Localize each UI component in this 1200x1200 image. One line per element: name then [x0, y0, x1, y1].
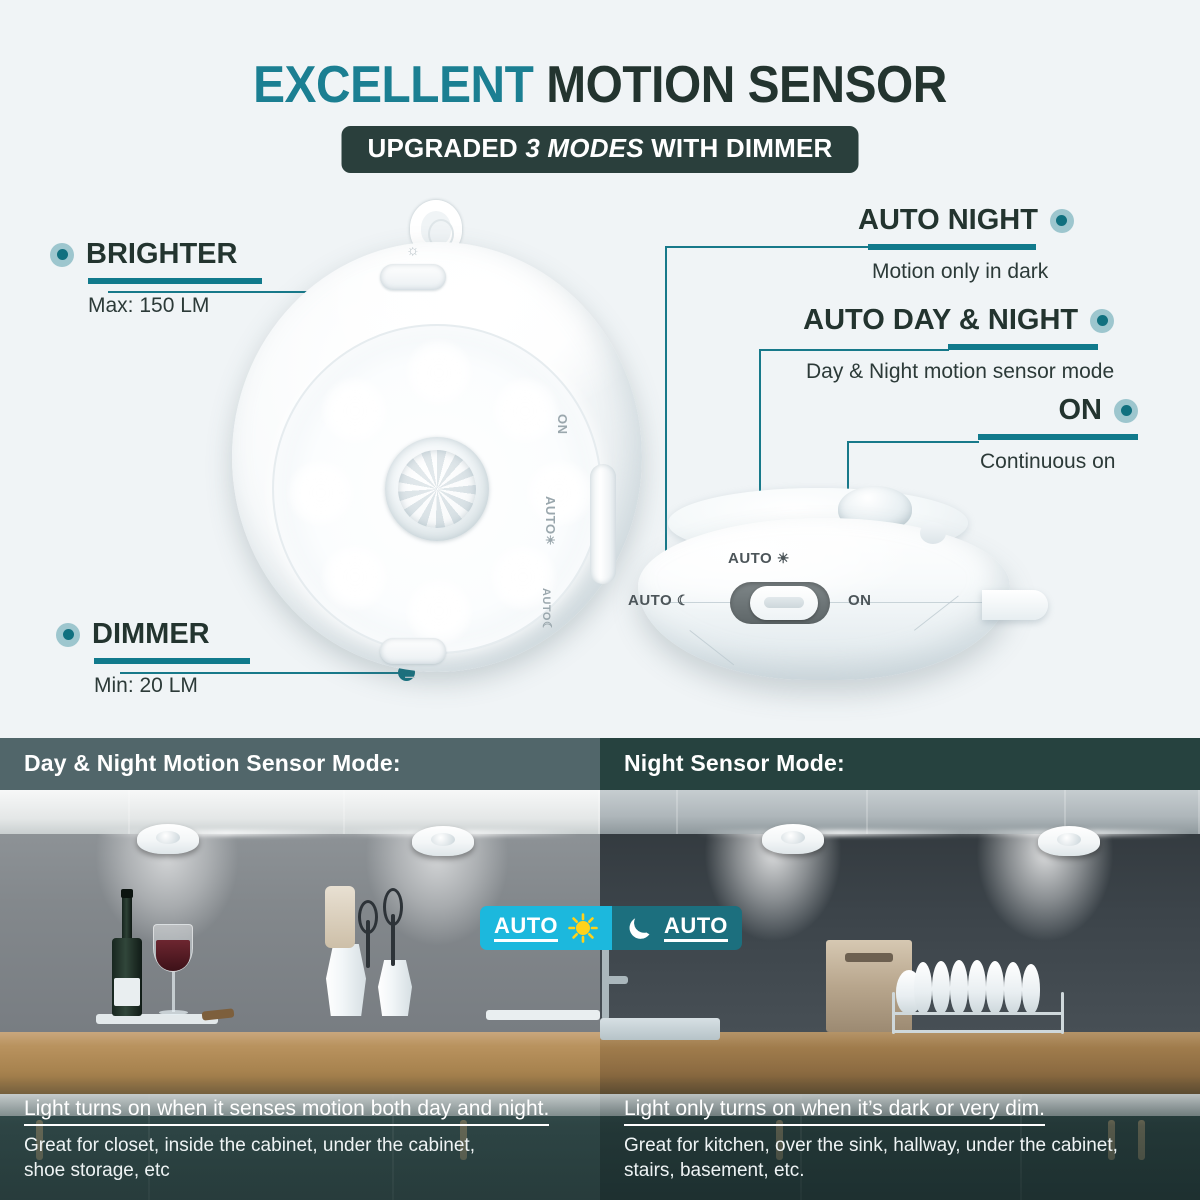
callout-brighter-sub: Max: 150 LM: [88, 295, 262, 316]
panel-left-header: Day & Night Motion Sensor Mode:: [0, 738, 600, 790]
whisk-2-head: [383, 888, 403, 926]
wine-glass: [153, 924, 195, 1016]
panel-right-caption-sub-1: Great for kitchen, over the sink, hallwa…: [624, 1133, 1184, 1159]
callout-auto-day-night-sub: Day & Night motion sensor mode: [806, 361, 1114, 382]
faucet-spout: [602, 976, 628, 984]
sun-icon: ☀: [543, 535, 557, 546]
panel-right-heading: Night Sensor Mode:: [624, 750, 845, 777]
sink-basin: [600, 1018, 720, 1040]
installed-light-1: [762, 824, 824, 854]
rack-wire-bottom: [892, 1030, 1064, 1033]
usage-scenarios: Day & Night Motion Sensor Mode:: [0, 738, 1200, 1200]
led-2: [492, 378, 558, 444]
vase-1: [326, 944, 366, 1016]
callout-auto-day-night: AUTO DAY & NIGHT Day & Night motion sens…: [800, 306, 1114, 382]
cutting-board-flat: [486, 1010, 600, 1020]
subtitle-pre: UPGRADED: [368, 133, 526, 163]
hero-section: EXCELLENT MOTION SENSOR UPGRADED 3 MODES…: [0, 0, 1200, 738]
panel-right-caption: Light only turns on when it’s dark or ve…: [624, 1095, 1184, 1184]
moon-icon: ☾: [540, 621, 554, 632]
badge-auto-night: AUTO: [612, 906, 742, 950]
plate-8: [1022, 964, 1040, 1014]
product-main-unit: ON AUTO☀ AUTO☾ ☼ ⚊: [232, 200, 642, 700]
installed-light-2: [412, 826, 474, 856]
callout-brighter-rule: [88, 278, 262, 284]
side-label-auto-night: AUTO☾: [540, 588, 554, 632]
sun-icon: ☀: [777, 550, 790, 566]
panel-right-header: Night Sensor Mode:: [600, 738, 1200, 790]
callout-on: ON Continuous on: [1000, 396, 1138, 472]
led-1: [406, 340, 472, 406]
bullet-dot-icon: [1050, 209, 1074, 233]
led-6: [322, 544, 388, 610]
pir-motion-sensor: [385, 437, 489, 541]
brightness-up-icon: ☼: [406, 242, 420, 259]
puck-housing: ON AUTO☀ AUTO☾ ☼ ⚊: [232, 242, 642, 672]
plate-4: [950, 960, 968, 1014]
product-infographic: EXCELLENT MOTION SENSOR UPGRADED 3 MODES…: [0, 0, 1200, 1200]
side-label-auto-day: AUTO☀: [543, 496, 558, 546]
callout-dimmer-title: DIMMER: [92, 620, 210, 649]
bullet-dot-icon: [50, 243, 74, 267]
subtitle-emphasis: 3 MODES: [525, 133, 643, 163]
bullet-dot-icon: [1090, 309, 1114, 333]
callout-auto-night-title: AUTO NIGHT: [858, 206, 1038, 235]
callout-auto-day-night-title: AUTO DAY & NIGHT: [803, 306, 1078, 335]
badge-auto-day: AUTO: [480, 906, 612, 950]
badge-auto-day-label: AUTO: [494, 914, 558, 941]
bullet-dot-icon: [1114, 399, 1138, 423]
callout-dimmer-rule: [94, 658, 250, 664]
plate-7: [1004, 962, 1022, 1014]
wine-bottle: [112, 888, 142, 1016]
panel-night-mode: Night Sensor Mode:: [600, 738, 1200, 1200]
underglow-1: [696, 830, 986, 836]
panel-left-caption-sub-1: Great for closet, inside the cabinet, un…: [24, 1133, 584, 1159]
rack-wire-left: [892, 992, 895, 1034]
title-accent: EXCELLENT: [253, 56, 533, 114]
brighter-button[interactable]: [380, 264, 446, 290]
whisk-1-head: [358, 900, 378, 934]
panel-day-night-mode: Day & Night Motion Sensor Mode:: [0, 738, 600, 1200]
side-label-on: ON: [555, 414, 570, 435]
plate-3: [932, 961, 950, 1014]
leader-line-on-h: [847, 441, 979, 443]
callout-brighter-title: BRIGHTER: [86, 240, 237, 269]
switch-label-auto-day: AUTO ☀: [728, 550, 790, 567]
brightness-down-icon: ⚊: [404, 666, 416, 682]
plate-2: [914, 962, 932, 1014]
led-5: [406, 578, 472, 644]
dimmer-button[interactable]: [380, 638, 446, 664]
auto-mode-badges: AUTO AUTO: [480, 906, 742, 950]
leader-line-auto-night-h: [665, 246, 870, 248]
moon-icon: [626, 914, 654, 942]
callout-auto-night-sub: Motion only in dark: [872, 261, 1074, 282]
product-second-unit: AUTO ☾ AUTO ☀ ON: [620, 470, 1050, 700]
callout-on-sub: Continuous on: [980, 451, 1138, 472]
callout-on-title: ON: [1059, 396, 1103, 425]
badge-auto-night-label: AUTO: [664, 914, 728, 941]
rear-mount-tab: [982, 590, 1048, 620]
panel-left-caption-main: Light turns on when it senses motion bot…: [24, 1095, 549, 1126]
vase-2: [378, 960, 412, 1016]
led-8: [322, 378, 388, 444]
plate-6: [986, 961, 1004, 1014]
rack-wire-top: [892, 1012, 1064, 1015]
sun-icon: [568, 913, 598, 943]
callout-brighter: BRIGHTER Max: 150 LM: [50, 240, 262, 316]
callout-dimmer: DIMMER Min: 20 LM: [56, 620, 250, 696]
mode-switch[interactable]: [730, 582, 830, 624]
subtitle-post: WITH DIMMER: [644, 133, 833, 163]
callout-auto-day-night-rule: [948, 344, 1098, 350]
plate-5: [968, 960, 986, 1014]
rack-wire-right: [1061, 992, 1064, 1034]
upper-cabinet: [0, 790, 600, 834]
callout-auto-night: AUTO NIGHT Motion only in dark: [858, 206, 1074, 282]
panel-left-caption: Light turns on when it senses motion bot…: [24, 1095, 584, 1184]
panel-right-caption-main: Light only turns on when it’s dark or ve…: [624, 1095, 1045, 1126]
mode-switch-knob[interactable]: [750, 586, 818, 620]
side-switch-slot: [590, 464, 616, 584]
panel-right-caption-sub-2: stairs, basement, etc.: [624, 1158, 1184, 1184]
switch-label-on: ON: [848, 592, 872, 609]
underglow-1: [96, 830, 356, 836]
subtitle-banner: UPGRADED 3 MODES WITH DIMMER: [342, 126, 859, 173]
switch-label-auto-night: AUTO ☾: [628, 592, 690, 609]
callout-auto-night-rule: [868, 244, 1036, 250]
rear-nub: [920, 522, 946, 544]
dish-rack: [892, 982, 1064, 1034]
callout-dimmer-sub: Min: 20 LM: [94, 675, 250, 696]
page-title: EXCELLENT MOTION SENSOR: [0, 55, 1200, 115]
panel-left-heading: Day & Night Motion Sensor Mode:: [24, 750, 401, 777]
installed-light-1: [137, 824, 199, 854]
led-7: [288, 460, 354, 526]
panel-left-caption-sub-2: shoe storage, etc: [24, 1158, 584, 1184]
moon-icon: ☾: [677, 592, 690, 608]
upper-cabinet: [600, 790, 1200, 834]
bullet-dot-icon: [56, 623, 80, 647]
wood-ornament: [325, 886, 355, 948]
callout-on-rule: [978, 434, 1138, 440]
title-rest: MOTION SENSOR: [533, 56, 947, 114]
installed-light-2: [1038, 826, 1100, 856]
